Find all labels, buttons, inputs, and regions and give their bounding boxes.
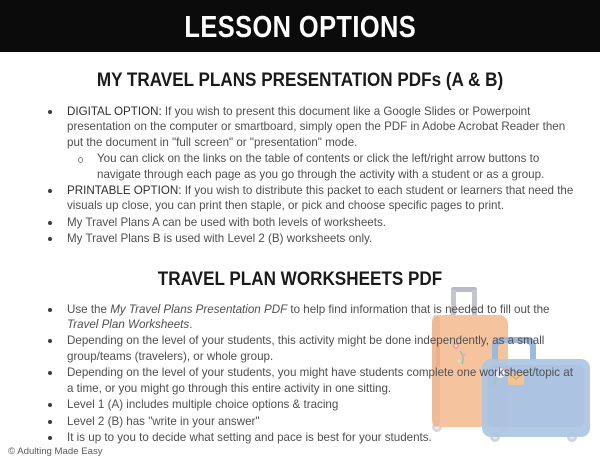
bullet-text-post: .: [189, 318, 192, 331]
list-item: Depending on the level of your students,…: [48, 333, 576, 364]
bullet-list-presentation-pdfs: DIGITAL OPTION: If you wish to present t…: [24, 104, 576, 247]
footer-copyright: © Adulting Made Easy: [8, 446, 103, 457]
page-header-banner: LESSON OPTIONS: [0, 0, 600, 52]
bullet-list-travel-plan-worksheets: Use the My Travel Plans Presentation PDF…: [24, 302, 576, 446]
document-content: MY TRAVEL PLANS PRESENTATION PDFs (A & B…: [0, 70, 600, 445]
list-item: PRINTABLE OPTION: If you wish to distrib…: [48, 183, 576, 214]
section-heading-travel-plan-worksheets: TRAVEL PLAN WORKSHEETS PDF: [52, 269, 549, 291]
page-title: LESSON OPTIONS: [184, 11, 416, 42]
bullet-lead-label: PRINTABLE OPTION:: [67, 184, 181, 197]
section-heading-presentation-pdfs: MY TRAVEL PLANS PRESENTATION PDFs (A & B…: [52, 70, 549, 92]
list-item: Depending on the level of your students,…: [48, 365, 576, 396]
bullet-lead-label: DIGITAL OPTION:: [67, 105, 162, 118]
list-item: DIGITAL OPTION: If you wish to present t…: [48, 104, 576, 182]
list-item: Level 2 (B) has "write in your answer": [48, 414, 576, 429]
list-item: My Travel Plans B is used with Level 2 (…: [48, 231, 576, 246]
bullet-text-pre: Use the: [67, 303, 110, 316]
list-item: It is up to you to decide what setting a…: [48, 430, 576, 445]
bullet-text-italic-title-2: Travel Plan Worksheets: [67, 318, 189, 331]
list-item: Use the My Travel Plans Presentation PDF…: [48, 302, 576, 333]
list-item: You can click on the links on the table …: [78, 151, 576, 182]
list-item: My Travel Plans A can be used with both …: [48, 215, 576, 230]
sub-bullet-list: You can click on the links on the table …: [67, 151, 576, 182]
bullet-text-italic-title: My Travel Plans Presentation PDF: [110, 303, 287, 316]
list-item: Level 1 (A) includes multiple choice opt…: [48, 397, 576, 412]
bullet-text-mid: to help find information that is needed …: [287, 303, 549, 316]
